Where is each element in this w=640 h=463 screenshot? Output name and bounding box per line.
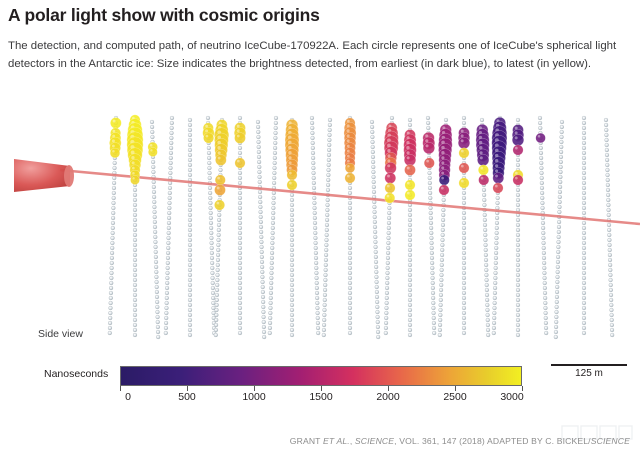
detector-dom	[557, 230, 561, 234]
detector-dom	[582, 286, 586, 290]
detector-dom	[582, 191, 586, 195]
detector-dom	[556, 275, 560, 279]
detector-dom	[559, 155, 563, 159]
detector-dom	[188, 133, 192, 137]
detector-dom	[432, 321, 436, 325]
detector-dom	[555, 290, 559, 294]
detector-dom	[516, 193, 520, 197]
detector-hit	[513, 175, 523, 185]
detector-dom	[348, 266, 352, 270]
detector-dom	[328, 118, 332, 122]
detector-dom	[325, 218, 329, 222]
detector-dom	[348, 296, 352, 300]
detector-dom	[152, 195, 156, 199]
detector-dom	[516, 323, 520, 327]
detector-dom	[238, 251, 242, 255]
detector-dom	[376, 335, 380, 339]
detector-dom	[582, 251, 586, 255]
detector-dom	[485, 273, 489, 277]
detector-dom	[559, 160, 563, 164]
detector-dom	[371, 155, 375, 159]
detector-dom	[496, 196, 500, 200]
detector-dom	[408, 233, 412, 237]
detector-dom	[156, 315, 160, 319]
detector-dom	[290, 278, 294, 282]
detector-hit-highlight	[461, 150, 464, 153]
detector-dom	[606, 188, 610, 192]
detector-dom	[323, 308, 327, 312]
detector-dom	[540, 166, 544, 170]
detector-dom	[259, 235, 263, 239]
detector-dom	[348, 246, 352, 250]
detector-hit-highlight	[515, 131, 518, 134]
detector-dom	[462, 306, 466, 310]
detector-dom	[430, 251, 434, 255]
detector-dom	[133, 323, 137, 327]
detector-dom	[441, 233, 445, 237]
detector-dom	[133, 263, 137, 267]
detector-dom	[168, 206, 172, 210]
detector-dom	[325, 243, 329, 247]
detector-dom	[582, 311, 586, 315]
detector-dom	[188, 318, 192, 322]
detector-dom	[373, 205, 377, 209]
detector-dom	[386, 256, 390, 260]
detector-dom	[324, 263, 328, 267]
colorbar-tick-mark	[120, 386, 121, 391]
detector-hit	[235, 133, 246, 144]
detector-dom	[387, 241, 391, 245]
detector-dom	[539, 151, 543, 155]
detector-dom	[269, 276, 273, 280]
detector-dom	[290, 233, 294, 237]
detector-dom	[188, 268, 192, 272]
detector-dom	[133, 318, 137, 322]
detector-dom	[493, 276, 497, 280]
detector-dom	[483, 218, 487, 222]
detector-dom	[582, 211, 586, 215]
detector-dom	[274, 131, 278, 135]
detector-dom	[438, 328, 442, 332]
detector-dom	[290, 293, 294, 297]
detector-dom	[554, 320, 558, 324]
detector-dom	[429, 221, 433, 225]
detector-hit	[405, 190, 415, 200]
detector-dom	[462, 321, 466, 325]
detector-dom	[112, 196, 116, 200]
detector-dom	[209, 226, 213, 230]
detector-dom	[408, 253, 412, 257]
detector-dom	[605, 148, 609, 152]
detector-hit-highlight	[112, 145, 115, 148]
detector-dom	[169, 166, 173, 170]
detector-dom	[111, 236, 115, 240]
detector-dom	[188, 203, 192, 207]
detector-dom	[483, 233, 487, 237]
detector-dom	[113, 161, 117, 165]
detector-dom	[133, 233, 137, 237]
detector-dom	[493, 281, 497, 285]
detector-dom	[426, 126, 430, 130]
detector-dom	[373, 235, 377, 239]
detector-dom	[167, 221, 171, 225]
detector-dom	[290, 193, 294, 197]
detector-dom	[215, 293, 219, 297]
detector-dom	[208, 166, 212, 170]
detector-dom	[188, 288, 192, 292]
detector-dom	[188, 313, 192, 317]
detector-dom	[542, 266, 546, 270]
detector-dom	[408, 228, 412, 232]
detector-dom	[606, 183, 610, 187]
detector-dom	[310, 116, 314, 120]
detector-dom	[607, 228, 611, 232]
detector-dom	[111, 221, 115, 225]
detector-dom	[376, 315, 380, 319]
detector-hit-highlight	[289, 172, 292, 175]
detector-hit-highlight	[237, 160, 240, 163]
detector-dom	[582, 181, 586, 185]
detector-dom	[290, 288, 294, 292]
detector-dom	[271, 216, 275, 220]
detector-hit-highlight	[480, 167, 483, 170]
detector-dom	[315, 291, 319, 295]
detector-dom	[208, 186, 212, 190]
detector-dom	[444, 118, 448, 122]
detector-dom	[582, 156, 586, 160]
detector-dom	[272, 181, 276, 185]
detector-dom	[385, 301, 389, 305]
detector-dom	[238, 191, 242, 195]
detector-dom	[385, 281, 389, 285]
detector-dom	[430, 236, 434, 240]
detector-hit-highlight	[387, 159, 390, 162]
detector-dom	[188, 303, 192, 307]
detector-dom	[386, 246, 390, 250]
detector-dom	[110, 251, 114, 255]
detector-dom	[290, 303, 294, 307]
detector-dom	[271, 221, 275, 225]
detector-dom	[323, 288, 327, 292]
detector-dom	[217, 243, 221, 247]
detector-dom	[290, 323, 294, 327]
detector-dom	[109, 291, 113, 295]
detector-hit	[130, 175, 139, 184]
detector-dom	[439, 303, 443, 307]
detector-dom	[216, 253, 220, 257]
detector-dom	[290, 238, 294, 242]
detector-dom	[384, 321, 388, 325]
detector-dom	[211, 276, 215, 280]
detector-dom	[260, 245, 264, 249]
detector-hit-highlight	[441, 156, 444, 159]
detector-dom	[428, 196, 432, 200]
detector-dom	[272, 191, 276, 195]
detector-hit	[493, 173, 504, 184]
detector-dom	[560, 120, 564, 124]
detector-dom	[210, 236, 214, 240]
detector-dom	[540, 191, 544, 195]
detector-dom	[609, 298, 613, 302]
detector-dom	[539, 161, 543, 165]
detector-dom	[258, 170, 262, 174]
detector-dom	[270, 256, 274, 260]
detector-dom	[188, 118, 192, 122]
detector-dom	[188, 138, 192, 142]
detector-dom	[327, 163, 331, 167]
detector-dom	[290, 248, 294, 252]
detector-dom	[316, 306, 320, 310]
detector-dom	[442, 198, 446, 202]
detector-dom	[188, 183, 192, 187]
detector-dom	[516, 278, 520, 282]
detector-dom	[154, 270, 158, 274]
page-subtitle: The detection, and computed path, of neu…	[8, 38, 624, 73]
detector-dom	[516, 288, 520, 292]
detector-dom	[314, 236, 318, 240]
detector-dom	[431, 291, 435, 295]
detector-dom	[374, 255, 378, 259]
detector-dom	[483, 203, 487, 207]
detector-dom	[110, 261, 114, 265]
detector-dom	[258, 200, 262, 204]
detector-hit-highlight	[347, 165, 350, 168]
detector-dom	[462, 231, 466, 235]
detector-dom	[430, 241, 434, 245]
detector-dom	[315, 281, 319, 285]
detector-dom	[316, 316, 320, 320]
detector-hit	[424, 158, 434, 168]
detector-dom	[328, 128, 332, 132]
detector-dom	[348, 231, 352, 235]
detector-dom	[272, 201, 276, 205]
detector-dom	[290, 273, 294, 277]
detector-dom	[438, 313, 442, 317]
detector-dom	[605, 133, 609, 137]
detector-dom	[156, 320, 160, 324]
detector-hit-highlight	[441, 172, 444, 175]
detector-dom	[238, 216, 242, 220]
detector-dom	[607, 213, 611, 217]
detector-hit-highlight	[426, 160, 429, 163]
detector-dom	[375, 280, 379, 284]
detector-dom	[348, 226, 352, 230]
detector-hit-highlight	[288, 156, 291, 159]
detector-dom	[155, 285, 159, 289]
detector-dom	[150, 120, 154, 124]
detector-dom	[432, 311, 436, 315]
detector-dom	[387, 221, 391, 225]
detector-hit-highlight	[347, 150, 350, 153]
detector-dom	[516, 223, 520, 227]
detector-dom	[408, 328, 412, 332]
detector-dom	[582, 171, 586, 175]
detector-dom	[582, 141, 586, 145]
detector-dom	[432, 306, 436, 310]
detector-dom	[290, 208, 294, 212]
detector-dom	[462, 221, 466, 225]
detector-dom	[610, 328, 614, 332]
detector-dom	[582, 166, 586, 170]
detector-dom	[542, 236, 546, 240]
detector-dom	[165, 291, 169, 295]
detector-dom	[215, 283, 219, 287]
detector-dom	[169, 161, 173, 165]
detector-dom	[582, 236, 586, 240]
detector-dom	[555, 300, 559, 304]
detector-dom	[462, 246, 466, 250]
detector-dom	[188, 123, 192, 127]
detector-dom	[516, 233, 520, 237]
detector-dom	[408, 293, 412, 297]
detector-dom	[167, 231, 171, 235]
detector-dom	[217, 213, 221, 217]
detector-dom	[188, 218, 192, 222]
detector-dom	[607, 223, 611, 227]
detector-dom	[238, 331, 242, 335]
detector-dom	[388, 206, 392, 210]
detector-dom	[209, 221, 213, 225]
detector-dom	[238, 301, 242, 305]
detector-dom	[188, 158, 192, 162]
detector-dom	[386, 271, 390, 275]
detector-dom	[215, 288, 219, 292]
detector-hit-highlight	[461, 180, 464, 183]
detector-dom	[555, 305, 559, 309]
detector-dom	[238, 146, 242, 150]
detector-dom	[485, 283, 489, 287]
detector-dom	[133, 223, 137, 227]
detector-dom	[311, 151, 315, 155]
detector-dom	[386, 251, 390, 255]
detector-dom	[208, 191, 212, 195]
detector-dom	[560, 130, 564, 134]
detector-dom	[482, 193, 486, 197]
detector-dom	[609, 303, 613, 307]
detector-dom	[315, 301, 319, 305]
detector-dom	[428, 171, 432, 175]
detector-dom	[313, 226, 317, 230]
detector-dom	[328, 123, 332, 127]
detector-dom	[257, 135, 261, 139]
detector-dom	[290, 253, 294, 257]
detector-dom	[188, 308, 192, 312]
detector-dom	[133, 328, 137, 332]
detector-dom	[238, 271, 242, 275]
detector-dom	[516, 268, 520, 272]
detector-dom	[582, 146, 586, 150]
detector-dom	[560, 140, 564, 144]
detector-dom	[217, 228, 221, 232]
detector-dom	[152, 170, 156, 174]
detector-dom	[516, 298, 520, 302]
side-view-label: Side view	[38, 328, 83, 340]
detector-dom	[544, 311, 548, 315]
detector-dom	[269, 306, 273, 310]
detector-dom	[262, 325, 266, 329]
detector-dom	[327, 153, 331, 157]
detector-dom	[558, 195, 562, 199]
detector-dom	[269, 296, 273, 300]
detector-dom	[541, 221, 545, 225]
detector-dom	[494, 246, 498, 250]
detector-dom	[133, 213, 137, 217]
detector-dom	[440, 268, 444, 272]
detector-dom	[211, 291, 215, 295]
detector-dom	[582, 256, 586, 260]
detector-dom	[150, 130, 154, 134]
detector-dom	[210, 261, 214, 265]
detector-dom	[206, 116, 210, 120]
detector-dom	[209, 201, 213, 205]
detector-dom	[375, 285, 379, 289]
detector-dom	[216, 263, 220, 267]
detector-dom	[582, 151, 586, 155]
detector-dom	[486, 308, 490, 312]
detector-dom	[462, 196, 466, 200]
detector-dom	[188, 163, 192, 167]
detector-dom	[387, 236, 391, 240]
detector-dom	[312, 196, 316, 200]
detector-dom	[556, 265, 560, 269]
detector-dom	[582, 221, 586, 225]
detector-dom	[371, 140, 375, 144]
detector-dom	[582, 206, 586, 210]
detector-dom	[385, 296, 389, 300]
detector-dom	[582, 201, 586, 205]
detector-dom	[269, 291, 273, 295]
detector-dom	[606, 198, 610, 202]
detector-hit-highlight	[387, 164, 390, 167]
detector-strings-layer	[108, 116, 614, 339]
detector-dom	[109, 306, 113, 310]
detector-dom	[544, 326, 548, 330]
detector-dom	[493, 306, 497, 310]
detector-dom	[111, 226, 115, 230]
detector-dom	[370, 120, 374, 124]
detector-dom	[426, 121, 430, 125]
detector-dom	[348, 236, 352, 240]
detector-dom	[170, 116, 174, 120]
detector-dom	[495, 226, 499, 230]
colorbar-tick-label: 500	[178, 391, 196, 403]
detector-dom	[153, 215, 157, 219]
detector-dom	[493, 301, 497, 305]
detector-dom	[111, 231, 115, 235]
detector-dom	[188, 328, 192, 332]
detector-dom	[257, 160, 261, 164]
credit-italic-science-2: SCIENCE	[591, 436, 630, 446]
detector-dom	[516, 318, 520, 322]
detector-dom	[516, 243, 520, 247]
detector-dom	[155, 280, 159, 284]
detector-dom	[217, 238, 221, 242]
detector-dom	[133, 333, 137, 337]
detector-dom	[210, 251, 214, 255]
detector-dom	[109, 301, 113, 305]
detector-dom	[268, 311, 272, 315]
detector-dom	[485, 293, 489, 297]
detector-dom	[315, 271, 319, 275]
detector-dom	[328, 133, 332, 137]
detector-dom	[209, 206, 213, 210]
detector-array-svg	[0, 104, 640, 356]
detector-dom	[273, 171, 277, 175]
detector-dom	[582, 131, 586, 135]
detector-dom	[327, 158, 331, 162]
detector-dom	[610, 318, 614, 322]
detector-hit	[459, 178, 469, 188]
